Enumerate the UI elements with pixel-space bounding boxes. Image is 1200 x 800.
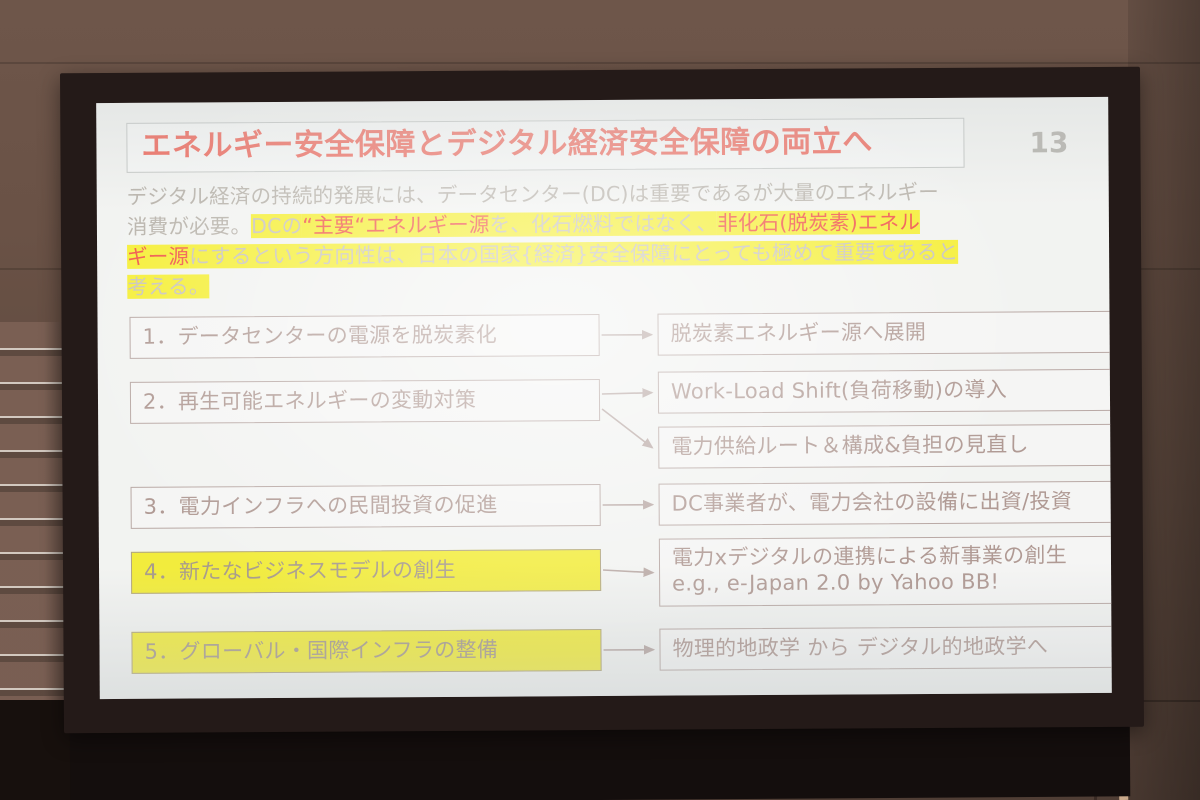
diagram-right-node-6-label: 物理的地政学 から デジタル的地政学へ [672, 635, 1048, 663]
wall-seam-upper [0, 62, 1200, 64]
diagram-right-node-1-label: 脱炭素エネルギー源へ展開 [671, 320, 927, 347]
presentation-slide: エネルギー安全保障とデジタル経済安全保障の両立へ 13 デジタル経済の持続的発展… [96, 97, 1112, 699]
paragraph-line-3-highlight: にするという方向性は、日本の国家{経済}安全保障にとっても極めて重要であると [189, 240, 958, 269]
diagram-left-node-5-label: 5．グローバル・国際インフラの整備 [144, 638, 498, 666]
roadmap-diagram: 1．データセンターの電源を脱炭素化 2．再生可能エネルギーの変動対策 3．電力イ… [127, 311, 1085, 672]
projection-screen-frame: エネルギー安全保障とデジタル経済安全保障の両立へ 13 デジタル経済の持続的発展… [60, 67, 1144, 734]
diagram-left-node-1-label: 1．データセンターの電源を脱炭素化 [143, 323, 498, 351]
paragraph-line-2-highlight-a: DCの [251, 214, 302, 238]
paragraph-line-1-text: デジタル経済の持続的発展には、データセンター(DC)は重要であるが大量のエネルギ… [127, 180, 939, 209]
diagram-left-node-1[interactable]: 1．データセンターの電源を脱炭素化 [129, 314, 599, 359]
diagram-left-node-4[interactable]: 4．新たなビジネスモデルの創生 [131, 549, 601, 594]
diagram-right-node-3[interactable]: 電力供給ルート＆構成&負担の見直し [658, 424, 1112, 469]
diagram-left-node-5[interactable]: 5．グローバル・国際インフラの整備 [131, 629, 601, 674]
diagram-left-node-3-label: 3．電力インフラへの民間投資の促進 [144, 493, 498, 521]
diagram-right-node-4[interactable]: DC事業者が、電力会社の設備に出資/投資 [659, 481, 1112, 526]
diagram-right-node-6[interactable]: 物理的地政学 から デジタル的地政学へ [659, 626, 1111, 671]
diagram-left-node-2[interactable]: 2．再生可能エネルギーの変動対策 [130, 379, 600, 424]
diagram-right-node-3-label: 電力供給ルート＆構成&負担の見直し [671, 433, 1029, 461]
diagram-left-node-3[interactable]: 3．電力インフラへの民間投資の促進 [131, 484, 601, 529]
diagram-right-node-5-label-line2: e.g., e-Japan 2.0 by Yahoo BB! [672, 569, 1112, 597]
slide-page-number: 13 [1029, 126, 1082, 159]
diagram-left-node-2-label: 2．再生可能エネルギーの変動対策 [143, 388, 476, 416]
paragraph-line-4: 考える。 [127, 267, 1083, 303]
diagram-right-node-2-label: Work-Load Shift(負荷移動)の導入 [671, 378, 1007, 406]
paragraph-line-2-highlight-b: を、化石燃料ではなく、 [490, 212, 718, 237]
diagram-right-node-5-label-line1: 電力xデジタルの連携による新事業の創生 [672, 543, 1112, 571]
paragraph-line-2-plain: 消費が必要。 [127, 214, 251, 239]
diagram-right-node-1[interactable]: 脱炭素エネルギー源へ展開 [657, 311, 1111, 356]
paragraph-line-3-red: ギー源 [127, 245, 189, 269]
slide-title-box: エネルギー安全保障とデジタル経済安全保障の両立へ [126, 118, 964, 174]
paragraph-line-2-red-b: 非化石(脱炭素)エネル [717, 210, 920, 235]
diagram-right-node-2[interactable]: Work-Load Shift(負荷移動)の導入 [658, 369, 1112, 414]
paragraph-line-4-highlight: 考える。 [127, 275, 209, 300]
diagram-left-node-4-label: 4．新たなビジネスモデルの創生 [144, 558, 456, 586]
page-title: エネルギー安全保障とデジタル経済安全保障の両立へ [141, 124, 949, 164]
diagram-right-node-5[interactable]: 電力xデジタルの連携による新事業の創生 e.g., e-Japan 2.0 by… [659, 536, 1112, 607]
slide-header: エネルギー安全保障とデジタル経済安全保障の両立へ 13 [126, 117, 1082, 173]
paragraph-line-3: ギー源にするという方向性は、日本の国家{経済}安全保障にとっても極めて重要である… [127, 237, 1083, 273]
diagram-right-node-4-label: DC事業者が、電力会社の設備に出資/投資 [672, 489, 1073, 517]
paragraph-line-2-red-a: “主要“エネルギー源 [302, 213, 489, 238]
slide-body-paragraph: デジタル経済の持続的発展には、データセンター(DC)は重要であるが大量のエネルギ… [127, 177, 1084, 303]
